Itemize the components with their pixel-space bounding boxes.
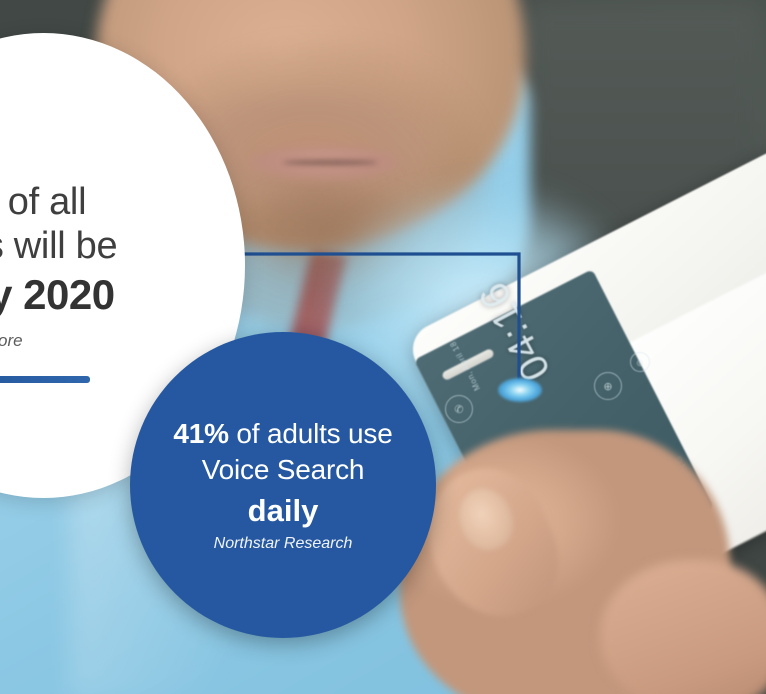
infographic-canvas: 04:16 Mon, April 18 ✆ ⊕ ◎ SAMSUNG % of a… [0,0,766,694]
phone-signal-icon: ◎ [630,352,650,372]
stat-white-line-2: es will be [0,224,227,268]
stat-white-source: mScore [0,331,227,351]
phone-call-icon: ✆ [445,395,473,423]
stat-blue-line-1-rest: of adults use [229,418,393,449]
stat-blue-value: 41% [173,418,228,449]
phone-plus-icon: ⊕ [594,372,622,400]
stat-white-line-1: % of all [0,180,227,224]
stat-blue-source: Northstar Research [214,535,353,553]
stat-blue-line-2: Voice Search [202,453,365,487]
stat-white-underline-rule [0,376,90,383]
photo-lip-line [282,160,378,165]
stat-blue-line-3: daily [248,492,319,529]
stat-blue-line-1: 41% of adults use [173,417,392,451]
stat-white-line-3: by 2020 [0,270,227,320]
phone-highlight-dot [498,378,542,402]
stat-callout-blue[interactable]: 41% of adults use Voice Search daily Nor… [130,332,436,638]
